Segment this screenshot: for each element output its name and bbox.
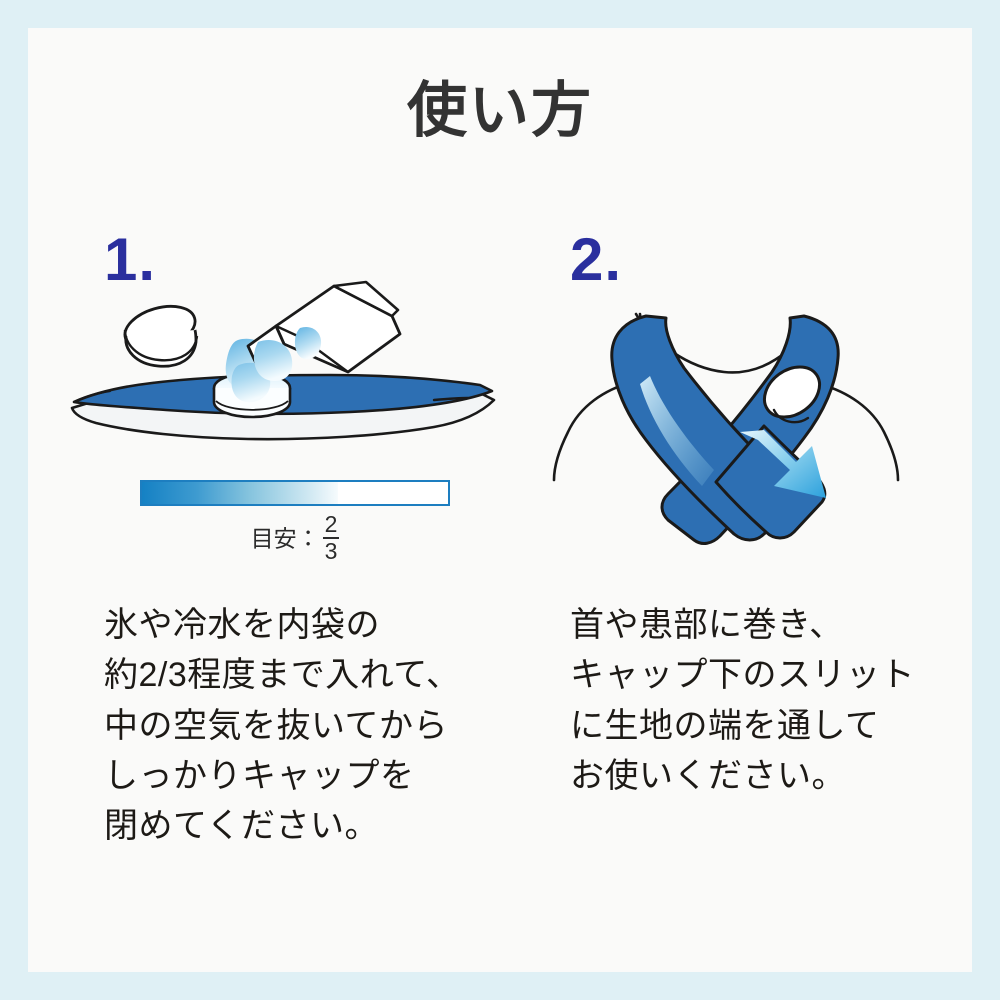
step-1-caption: 氷や冷水を内袋の 約2/3程度まで入れて、 中の空気を抜いてから しっかりキャッ…: [104, 600, 504, 852]
towel-on-neck-illustration: [528, 280, 968, 580]
step-2-caption: 首や患部に巻き、 キャップ下のスリット に生地の端を通して お使いください。: [570, 600, 970, 801]
content-panel: 使い方 1.: [28, 28, 972, 972]
fraction-numerator: 2: [323, 513, 340, 539]
step-1-column: 1.: [62, 208, 502, 948]
step-2-column: 2.: [528, 208, 968, 948]
step-2-illustration: [528, 280, 968, 580]
ice-container: [248, 282, 400, 381]
gauge-label: 目安：23: [140, 514, 450, 564]
shoulder-right: [820, 384, 898, 480]
poster-root: 使い方 1.: [0, 0, 1000, 1000]
gauge-fraction: 23: [323, 513, 340, 563]
fill-gauge: 目安：23: [62, 480, 502, 590]
page-title: 使い方: [28, 78, 972, 144]
fraction-denominator: 3: [323, 539, 340, 563]
gauge-track: [140, 480, 450, 506]
gauge-label-text: 目安：: [251, 526, 320, 552]
gauge-fill: [142, 482, 338, 504]
